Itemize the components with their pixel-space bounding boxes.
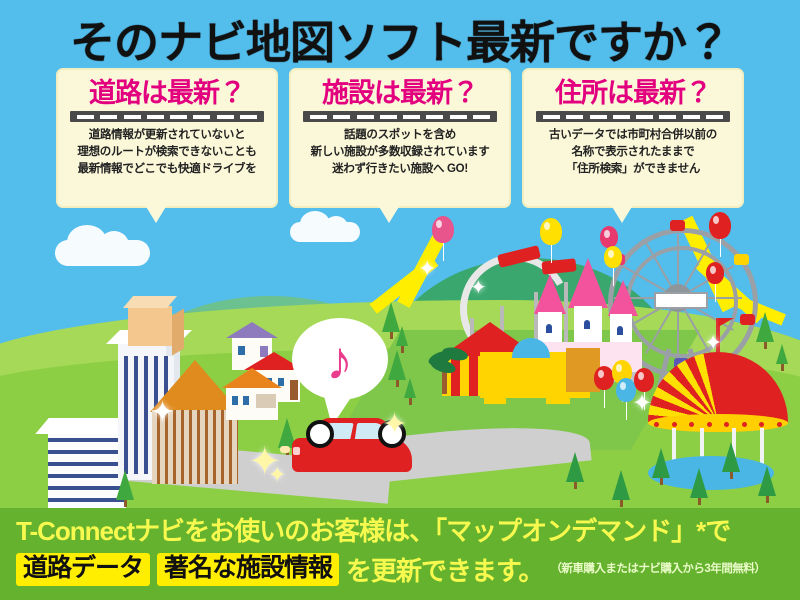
chip-road-data: 道路データ [16,553,150,586]
balloon [709,212,731,239]
road-divider-icon [70,111,264,122]
panel-address[interactable]: 住所は最新？ 古いデータでは市町村合併以前の 名称で表示されたままで 「住所検索… [522,68,744,208]
ferris-cabin [740,314,755,325]
music-speech-bubble: ♪ [292,318,388,400]
sparkle-icon: ✦ [418,258,436,280]
ferris-cabin [734,254,749,265]
sparkle-icon: ✦ [382,410,407,440]
tree [652,448,670,485]
panel-road-line3: 最新情報でどこでも快適ドライブを [64,161,270,178]
panel-facility[interactable]: 施設は最新？ 話題のスポットを含め 新しい施設が多数収録されています 迷わず行き… [289,68,511,208]
park-building-block [484,372,506,404]
balloon [604,246,622,268]
panel-address-title: 住所は最新？ [530,79,736,107]
balloon [594,366,614,390]
road-divider-icon [303,111,497,122]
tree [404,378,416,405]
tree [776,344,788,371]
sparkle-icon: ✦ [470,278,487,298]
tree [612,470,630,507]
tree [690,468,708,505]
road-divider-icon [536,111,730,122]
panel-group: 道路は最新？ 道路情報が更新されていないと 理想のルートが検索できないことも 最… [0,68,800,208]
cloud [290,222,360,242]
panel-address-line3: 「住所検索」ができません [530,161,736,178]
bottom-banner: T-Connectナビをお使いのお客様は、「マップオンデマンド」*で 道路データ… [0,508,800,600]
tree [722,442,740,479]
sparkle-icon: ✦ [150,398,175,428]
sparkle-icon: ✦ [632,392,652,416]
panel-facility-line3: 迷わず行きたい施設へ GO! [297,161,503,178]
balloon [634,368,654,392]
sparkle-icon: ✦ [704,332,722,354]
sparkle-icon: ✦ [268,464,286,486]
panel-facility-line1: 話題のスポットを含め [297,127,503,144]
balloon [540,218,562,245]
balloon [600,226,618,248]
banner-tail-text: を更新できます。 [346,551,543,588]
music-note-icon: ♪ [326,334,353,388]
banner-second-line: 道路データ 著名な施設情報 を更新できます。 （新車購入またはナビ購入から3年間… [16,551,790,588]
panel-address-line2: 名称で表示されたままで [530,144,736,161]
balloon [706,262,724,284]
panel-road-line2: 理想のルートが検索できないことも [64,144,270,161]
banner-headline: T-Connectナビをお使いのお客様は、「マップオンデマンド」*で [16,516,790,547]
panel-road[interactable]: 道路は最新？ 道路情報が更新されていないと 理想のルートが検索できないことも 最… [56,68,278,208]
panel-facility-line2: 新しい施設が多数収録されています [297,144,503,161]
low-rise-building [48,430,126,515]
balloon [432,216,454,243]
ferris-cabin [670,220,685,231]
page-title: そのナビ地図ソフト最新ですか？ [0,6,800,71]
rooftop-box [128,306,172,346]
tree [758,466,776,503]
panel-address-line1: 古いデータでは市町村合併以前の [530,127,736,144]
panel-facility-title: 施設は最新？ [297,79,503,107]
chip-facility-info: 著名な施設情報 [157,553,339,586]
poster: ♪ ✦ ✦ ✦ ✦ ✦ ✦ [0,0,800,600]
tree [396,326,408,353]
cloud [55,240,150,266]
tree [566,452,584,489]
tree [116,470,134,507]
banner-note: （新車購入またはナビ購入から3年間無料） [550,560,765,579]
panel-road-line1: 道路情報が更新されていないと [64,127,270,144]
tree [756,312,774,349]
panel-road-title: 道路は最新？ [64,79,270,107]
